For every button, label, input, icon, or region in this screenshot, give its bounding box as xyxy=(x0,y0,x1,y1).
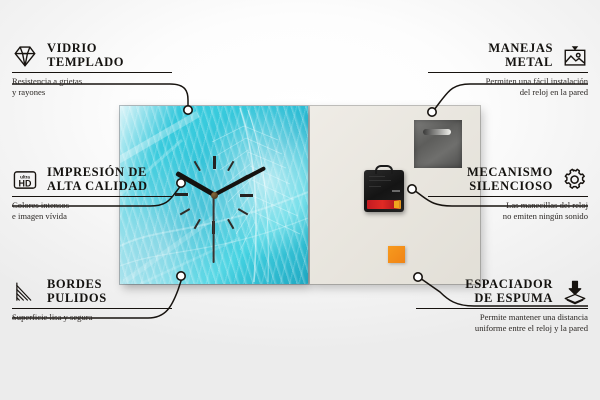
polished-edges-icon xyxy=(12,279,38,305)
mechanism-detail xyxy=(369,180,391,181)
callout-title-line2: ALTA CALIDAD xyxy=(47,180,148,194)
callout-rule xyxy=(428,196,588,197)
mechanism-loop xyxy=(375,165,393,174)
callout-desc-line2: uniforme entre el reloj y la pared xyxy=(414,323,588,334)
callout-desc-line2: no emiten ningún sonido xyxy=(414,211,588,222)
callout-title-line1: IMPRESIÓN DE xyxy=(47,166,147,180)
callout-impresion-alta-calidad[interactable]: ultra HD IMPRESIÓN DE ALTA CALIDAD Color… xyxy=(0,166,186,222)
callout-rule xyxy=(12,308,172,309)
battery xyxy=(367,200,401,209)
callout-desc-line2: y rayones xyxy=(12,87,186,98)
callout-espaciador-espuma[interactable]: ESPACIADOR DE ESPUMA Permite mantener un… xyxy=(414,278,600,334)
picture-hanger-icon xyxy=(562,43,588,69)
callout-mecanismo-silencioso[interactable]: MECANISMO SILENCIOSO Las manecillas del … xyxy=(414,166,600,222)
callout-title-line2: DE ESPUMA xyxy=(474,292,553,306)
battery-tip xyxy=(394,201,399,208)
infographic-stage: VIDRIO TEMPLADO Resistencia a grietas y … xyxy=(0,0,600,400)
callout-title-line1: ESPACIADOR xyxy=(465,278,553,292)
metal-hanger xyxy=(414,120,462,168)
callout-title-line2: METAL xyxy=(505,56,553,70)
callout-desc-line1: Resistencia a grietas xyxy=(12,76,186,87)
quartz-mechanism xyxy=(364,170,404,212)
ultra-hd-large-label: HD xyxy=(19,178,32,188)
hanger-slot xyxy=(423,129,451,135)
mechanism-detail xyxy=(392,190,400,192)
callout-bordes-pulidos[interactable]: BORDES PULIDOS Superficie lisa y segura xyxy=(0,278,186,323)
callout-title-line1: BORDES xyxy=(47,278,102,292)
callout-manejas-metal[interactable]: MANEJAS METAL Permiten una fácil instala… xyxy=(414,42,600,98)
callout-desc-line1: Permiten una fácil instalación xyxy=(414,76,588,87)
callout-title-line1: MECANISMO xyxy=(467,166,553,180)
gear-icon xyxy=(562,167,588,193)
callout-rule xyxy=(416,308,588,309)
clock-second-hand xyxy=(213,195,215,263)
callout-desc-line1: Permite mantener una distancia xyxy=(414,312,588,323)
callout-title-line2: TEMPLADO xyxy=(47,56,124,70)
callout-desc-line1: Colores intensos xyxy=(12,200,186,211)
callout-desc-line1: Superficie lisa y segura xyxy=(12,312,186,323)
clock-pivot xyxy=(211,192,218,199)
callout-title-line1: VIDRIO xyxy=(47,42,97,56)
callout-rule xyxy=(12,196,172,197)
callout-desc-line2: e imagen vívida xyxy=(12,211,186,222)
mechanism-detail xyxy=(369,176,385,177)
callout-rule xyxy=(12,72,172,73)
callout-desc-line1: Las manecillas del reloj xyxy=(414,200,588,211)
foam-spacer-icon xyxy=(562,279,588,305)
callout-title-line1: MANEJAS xyxy=(488,42,553,56)
callout-vidrio-templado[interactable]: VIDRIO TEMPLADO Resistencia a grietas y … xyxy=(0,42,186,98)
callout-rule xyxy=(428,72,588,73)
mechanism-detail xyxy=(369,186,381,187)
ultra-hd-icon: ultra HD xyxy=(12,167,38,193)
diamond-icon xyxy=(12,43,38,69)
callout-title-line2: SILENCIOSO xyxy=(469,180,553,194)
callout-title-line2: PULIDOS xyxy=(47,292,107,306)
foam-spacer xyxy=(388,246,405,263)
callout-desc-line2: del reloj en la pared xyxy=(414,87,588,98)
